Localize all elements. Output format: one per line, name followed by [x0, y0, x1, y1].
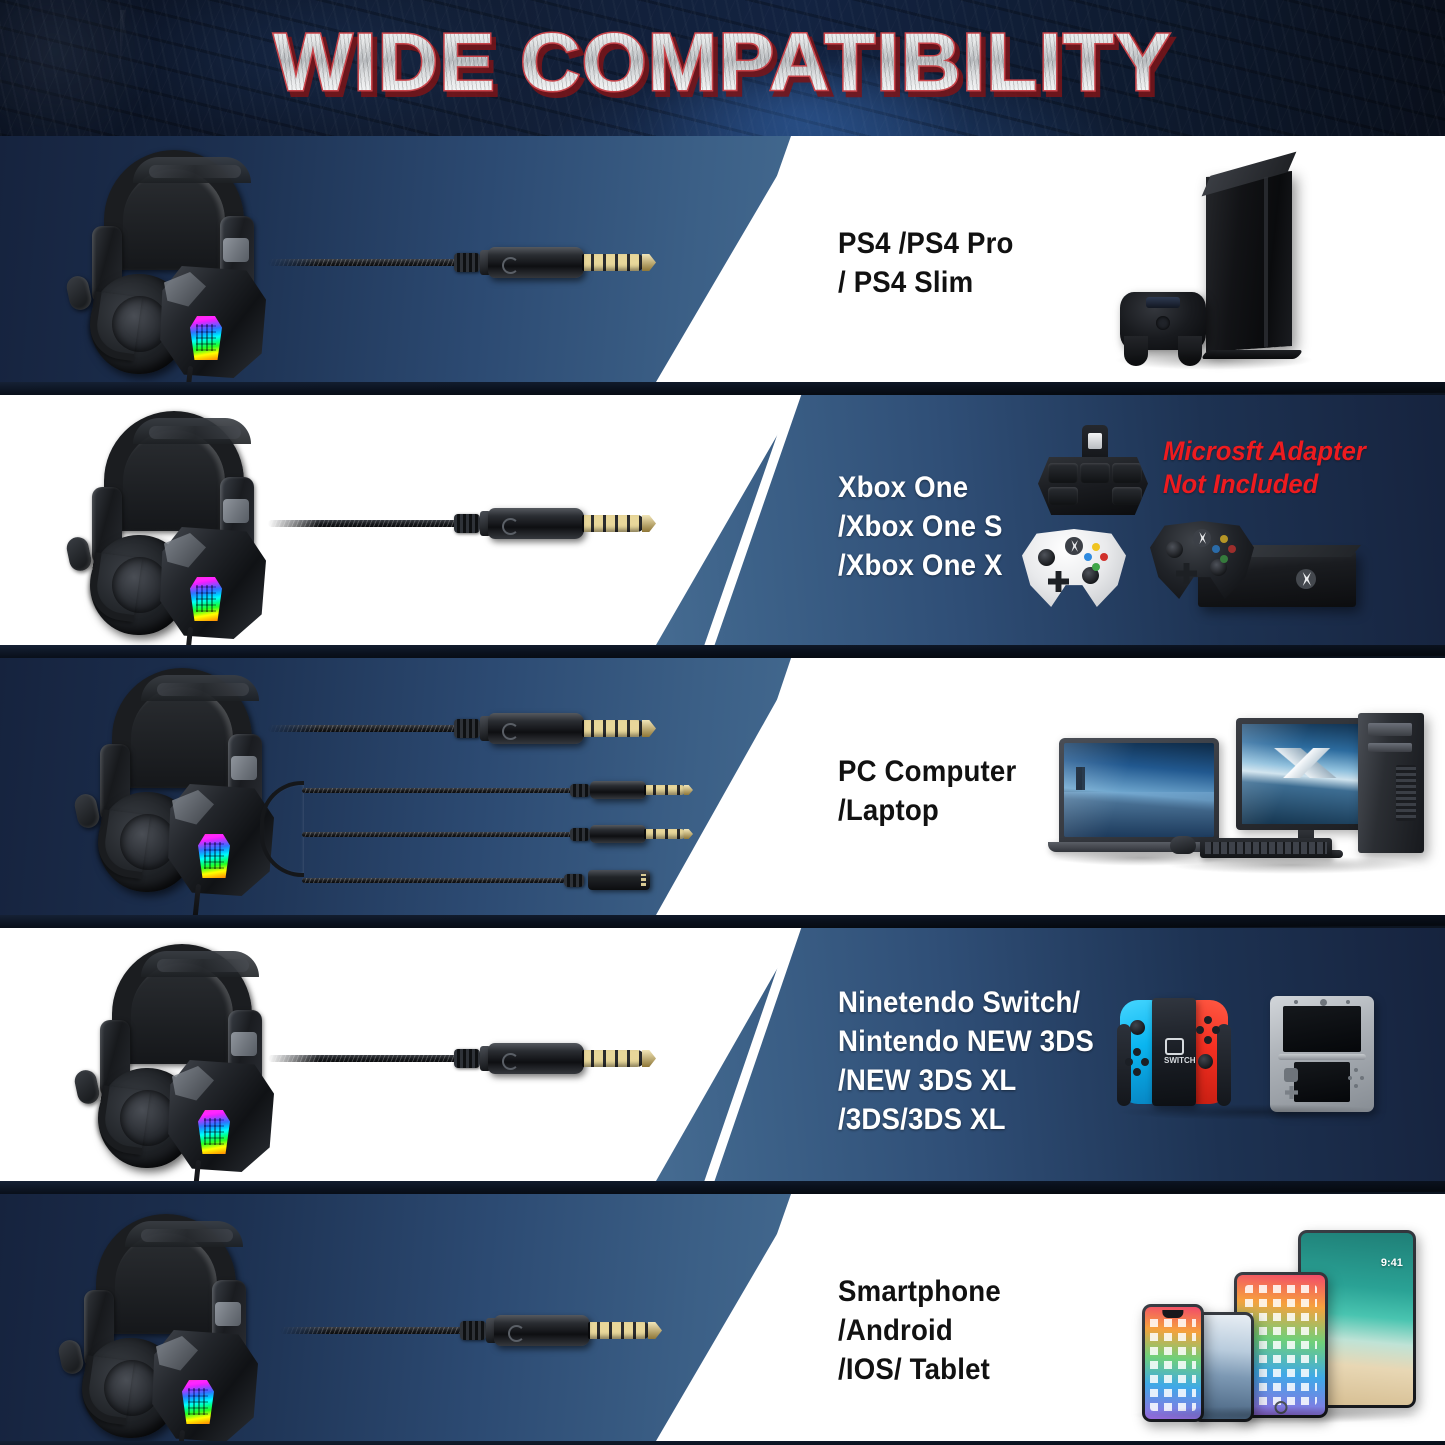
3ds-button-x[interactable]: [1354, 1068, 1358, 1072]
adapter-button-xbox[interactable]: [1080, 463, 1110, 483]
cable-strain-relief: [454, 514, 480, 533]
headset-rgb-led: [190, 316, 222, 360]
cable-cord: [268, 1055, 464, 1062]
iphone-x: [1142, 1304, 1204, 1422]
y-splitter-adapter-cable: [250, 773, 670, 898]
xbox-button-x[interactable]: [1212, 545, 1220, 553]
splitter-strain-relief: [570, 828, 590, 841]
tower-front-panel: [1368, 743, 1412, 752]
splitter-plug-barrel: [590, 825, 646, 843]
desktop-tower: [1358, 713, 1424, 853]
ps4-shadow: [1114, 350, 1314, 370]
row-nintendo-label-line-2: Nintendo NEW 3DS: [838, 1022, 1094, 1061]
desktop-shadow: [1166, 856, 1416, 874]
splitter-cable-loop: [260, 781, 304, 877]
row-mobile-label-line-2: /Android: [838, 1311, 1001, 1350]
switch-button-b[interactable]: [1204, 1036, 1212, 1044]
row-pc: PC Computer /Laptop: [0, 658, 1445, 915]
mouse[interactable]: [1170, 836, 1196, 854]
row-pc-label-line-2: /Laptop: [838, 791, 1016, 830]
xbox-device-group: [1022, 515, 1442, 635]
headset-mic-boom: [86, 552, 142, 622]
dualshock-4-controller: [1120, 292, 1206, 350]
splitter-cord-microphone: [302, 832, 580, 837]
switch-button-x[interactable]: [1204, 1016, 1212, 1024]
splitter-female-socket: [588, 870, 650, 890]
splitter-strain-relief: [570, 784, 590, 797]
row-mobile-label-line-3: /IOS/ Tablet: [838, 1350, 1001, 1389]
3ds-circle-pad[interactable]: [1284, 1068, 1298, 1082]
adapter-button-mic[interactable]: [1048, 487, 1078, 505]
3ds-hinge: [1278, 1054, 1366, 1060]
row-separator-3: [0, 915, 1445, 928]
splitter-microphone-plug: [302, 823, 682, 845]
plug-contacts: [582, 254, 644, 271]
plug-barrel: [488, 508, 584, 539]
row-mobile: Smartphone /Android /IOS/ Tablet 9:41: [0, 1194, 1445, 1441]
row-pc-label-line-1: PC Computer: [838, 752, 1016, 791]
splitter-plug-contacts: [644, 785, 686, 795]
header-banner: WIDE COMPATIBILITY WIDE COMPATIBILITY WI…: [0, 0, 1445, 136]
xbox-dpad[interactable]: [1048, 571, 1069, 592]
headset-mic-boom: [78, 1355, 134, 1425]
row-ps4: PS4 /PS4 Pro / PS4 Slim: [0, 136, 1445, 382]
compatibility-infographic: WIDE COMPATIBILITY WIDE COMPATIBILITY WI…: [0, 0, 1445, 1445]
xbox-left-stick[interactable]: [1038, 549, 1055, 566]
page-title: WIDE COMPATIBILITY WIDE COMPATIBILITY WI…: [0, 16, 1445, 110]
ps4-console-top: [1202, 152, 1297, 197]
adapter-usb-contact: [1088, 433, 1102, 449]
row-nintendo-label-line-1: Ninetendo Switch/: [838, 983, 1094, 1022]
splitter-headphone-plug: [302, 779, 682, 801]
splitter-cord-headphone: [302, 788, 580, 793]
cable-strain-relief: [454, 719, 480, 738]
switch-right-stick[interactable]: [1198, 1054, 1213, 1069]
plug-contacts: [582, 720, 644, 737]
3ds-camera-center: [1320, 999, 1327, 1006]
ipad-mini-app-grid: [1245, 1285, 1317, 1405]
switch-button-a[interactable]: [1212, 1026, 1220, 1034]
ps4-device-group: [1108, 154, 1348, 369]
cable-cord: [280, 1327, 470, 1334]
bottom-edge: [0, 1441, 1445, 1445]
nintendo-shadow: [1114, 1104, 1394, 1120]
xbox-logo: [1296, 569, 1316, 589]
headset-rgb-led: [190, 577, 222, 621]
splitter-plug-contacts: [644, 829, 686, 839]
tower-optical-drive[interactable]: [1368, 723, 1412, 736]
mobile-shadow: [1130, 1406, 1420, 1424]
cable-cord: [268, 725, 464, 732]
row-nintendo-label-line-4: /3DS/3DS XL: [838, 1100, 1094, 1139]
row-nintendo-label: Ninetendo Switch/ Nintendo NEW 3DS /NEW …: [838, 983, 1094, 1139]
switch-dpad-right[interactable]: [1141, 1058, 1149, 1066]
splitter-plug-barrel: [590, 781, 646, 799]
row-separator-2: [0, 645, 1445, 658]
cable-strain-relief: [460, 1321, 486, 1340]
adapter-note-line-1: Microsft Adapter: [1163, 435, 1366, 468]
row-ps4-label-line-2: / PS4 Slim: [838, 263, 1014, 302]
mobile-device-group: 9:41: [1130, 1216, 1420, 1416]
audio-cable-with-plug: [268, 1040, 668, 1076]
plug-contacts: [582, 515, 644, 532]
audio-cable-with-plug: [268, 244, 668, 280]
row-xbox-label-line-1: Xbox One: [838, 468, 1003, 507]
audio-cable-with-plug: [280, 1312, 680, 1348]
3ds-top-screen: [1283, 1006, 1361, 1052]
plug-contacts: [588, 1322, 650, 1339]
switch-dpad-up[interactable]: [1133, 1048, 1141, 1056]
xbox-one-s-controller-white: [1022, 529, 1126, 607]
3ds-bottom-screen[interactable]: [1294, 1062, 1350, 1102]
page-title-text: WIDE COMPATIBILITY: [273, 17, 1171, 108]
laptop-screen-skyline: [1076, 767, 1202, 790]
audio-cable-with-plug: [268, 710, 668, 746]
headset-rgb-led: [198, 834, 230, 878]
adapter-body: [1038, 457, 1148, 515]
plug-contacts: [582, 1050, 644, 1067]
nintendo-switch: SWITCH: [1120, 998, 1228, 1106]
switch-dpad-down[interactable]: [1133, 1068, 1141, 1076]
3ds-button-y[interactable]: [1348, 1076, 1352, 1080]
desktop-monitor: [1236, 718, 1376, 830]
iphone-x-screen: [1145, 1307, 1201, 1419]
ps4-console-seam: [1264, 177, 1268, 347]
row-xbox-label-line-2: /Xbox One S: [838, 507, 1003, 546]
laptop-screen: [1064, 743, 1214, 837]
headset-product-image: [70, 148, 280, 378]
row-xbox: Xbox One /Xbox One S /Xbox One X Microsf…: [0, 395, 1445, 645]
row-xbox-label-line-3: /Xbox One X: [838, 546, 1003, 585]
row-xbox-label: Xbox One /Xbox One S /Xbox One X: [838, 468, 1003, 585]
row-nintendo-label-line-3: /NEW 3DS XL: [838, 1061, 1094, 1100]
switch-left-stick[interactable]: [1130, 1020, 1145, 1035]
xbox-button-x[interactable]: [1084, 553, 1092, 561]
row-pc-label: PC Computer /Laptop: [838, 752, 1016, 830]
3ds-camera-right: [1346, 1000, 1350, 1004]
xbox-guide-button[interactable]: [1065, 537, 1083, 555]
new-3ds-xl: [1270, 996, 1374, 1112]
switch-dpad-left[interactable]: [1125, 1058, 1133, 1066]
headset-rgb-led: [182, 1380, 214, 1424]
plug-barrel: [488, 247, 584, 278]
cable-strain-relief: [454, 1049, 480, 1068]
ipad-clock: 9:41: [1381, 1257, 1403, 1269]
headset-product-image: [62, 1212, 272, 1441]
xbox-button-b[interactable]: [1228, 545, 1236, 553]
cable-cord: [268, 520, 464, 527]
adapter-button-mute[interactable]: [1048, 463, 1078, 483]
keyboard[interactable]: [1200, 838, 1332, 858]
adapter-button-volume-down[interactable]: [1112, 487, 1142, 505]
plug-tip: [642, 720, 656, 737]
switch-logo: SWITCH: [1164, 1038, 1184, 1064]
nintendo-device-group: SWITCH: [1120, 996, 1420, 1121]
tower-vent: [1396, 765, 1416, 821]
3ds-button-b[interactable]: [1354, 1084, 1358, 1088]
ps4-logo: [1220, 271, 1240, 298]
3ds-camera-left: [1294, 1000, 1298, 1004]
xbox-guide-button[interactable]: [1193, 529, 1211, 547]
headset-mic-boom: [94, 809, 150, 879]
xbox-button-a[interactable]: [1220, 555, 1228, 563]
desktop-computer: [1236, 708, 1436, 873]
laptop-lid: [1059, 738, 1219, 842]
headset-product-image: [70, 409, 280, 639]
plug-barrel: [488, 1043, 584, 1074]
monitor-screen: [1242, 724, 1370, 824]
splitter-strain-relief: [564, 874, 584, 887]
monitor-screen-glare: [1242, 724, 1321, 824]
plug-barrel: [494, 1315, 590, 1346]
iphone-app-grid: [1150, 1315, 1196, 1411]
ps4-pro-console: [1206, 171, 1292, 352]
plug-tip: [642, 1050, 656, 1067]
xbox-button-y[interactable]: [1092, 543, 1100, 551]
adapter-not-included-note: Microsft Adapter Not Included: [1163, 435, 1366, 501]
cable-cord: [268, 259, 464, 266]
xbox-dpad[interactable]: [1176, 563, 1197, 584]
plug-tip: [642, 515, 656, 532]
row-nintendo: Ninetendo Switch/ Nintendo NEW 3DS /NEW …: [0, 928, 1445, 1181]
xbox-left-stick[interactable]: [1166, 541, 1183, 558]
switch-button-y[interactable]: [1196, 1026, 1204, 1034]
row-ps4-label-line-1: PS4 /PS4 Pro: [838, 224, 1014, 263]
headset-rgb-led: [198, 1110, 230, 1154]
row-mobile-label: Smartphone /Android /IOS/ Tablet: [838, 1272, 1001, 1389]
cable-strain-relief: [454, 253, 480, 272]
xbox-button-a[interactable]: [1092, 563, 1100, 571]
xbox-button-b[interactable]: [1100, 553, 1108, 561]
headset-mic-boom: [94, 1085, 150, 1155]
row-separator-4: [0, 1181, 1445, 1194]
headset-product-image: [78, 942, 288, 1172]
adapter-button-volume-up[interactable]: [1112, 463, 1142, 483]
xbox-stereo-headset-adapter: [1032, 425, 1162, 525]
adapter-note-line-2: Not Included: [1163, 468, 1366, 501]
headset-mic-boom: [86, 291, 142, 361]
switch-grip-right: [1217, 1024, 1231, 1106]
row-ps4-label: PS4 /PS4 Pro / PS4 Slim: [838, 224, 1014, 302]
plug-tip: [648, 1322, 662, 1339]
splitter-cord-combined: [302, 878, 574, 883]
row-separator-1: [0, 382, 1445, 395]
3ds-button-a[interactable]: [1360, 1076, 1364, 1080]
audio-cable-with-plug: [268, 505, 668, 541]
xbox-button-y[interactable]: [1220, 535, 1228, 543]
plug-barrel: [488, 713, 584, 744]
row-mobile-label-line-1: Smartphone: [838, 1272, 1001, 1311]
plug-tip: [642, 254, 656, 271]
